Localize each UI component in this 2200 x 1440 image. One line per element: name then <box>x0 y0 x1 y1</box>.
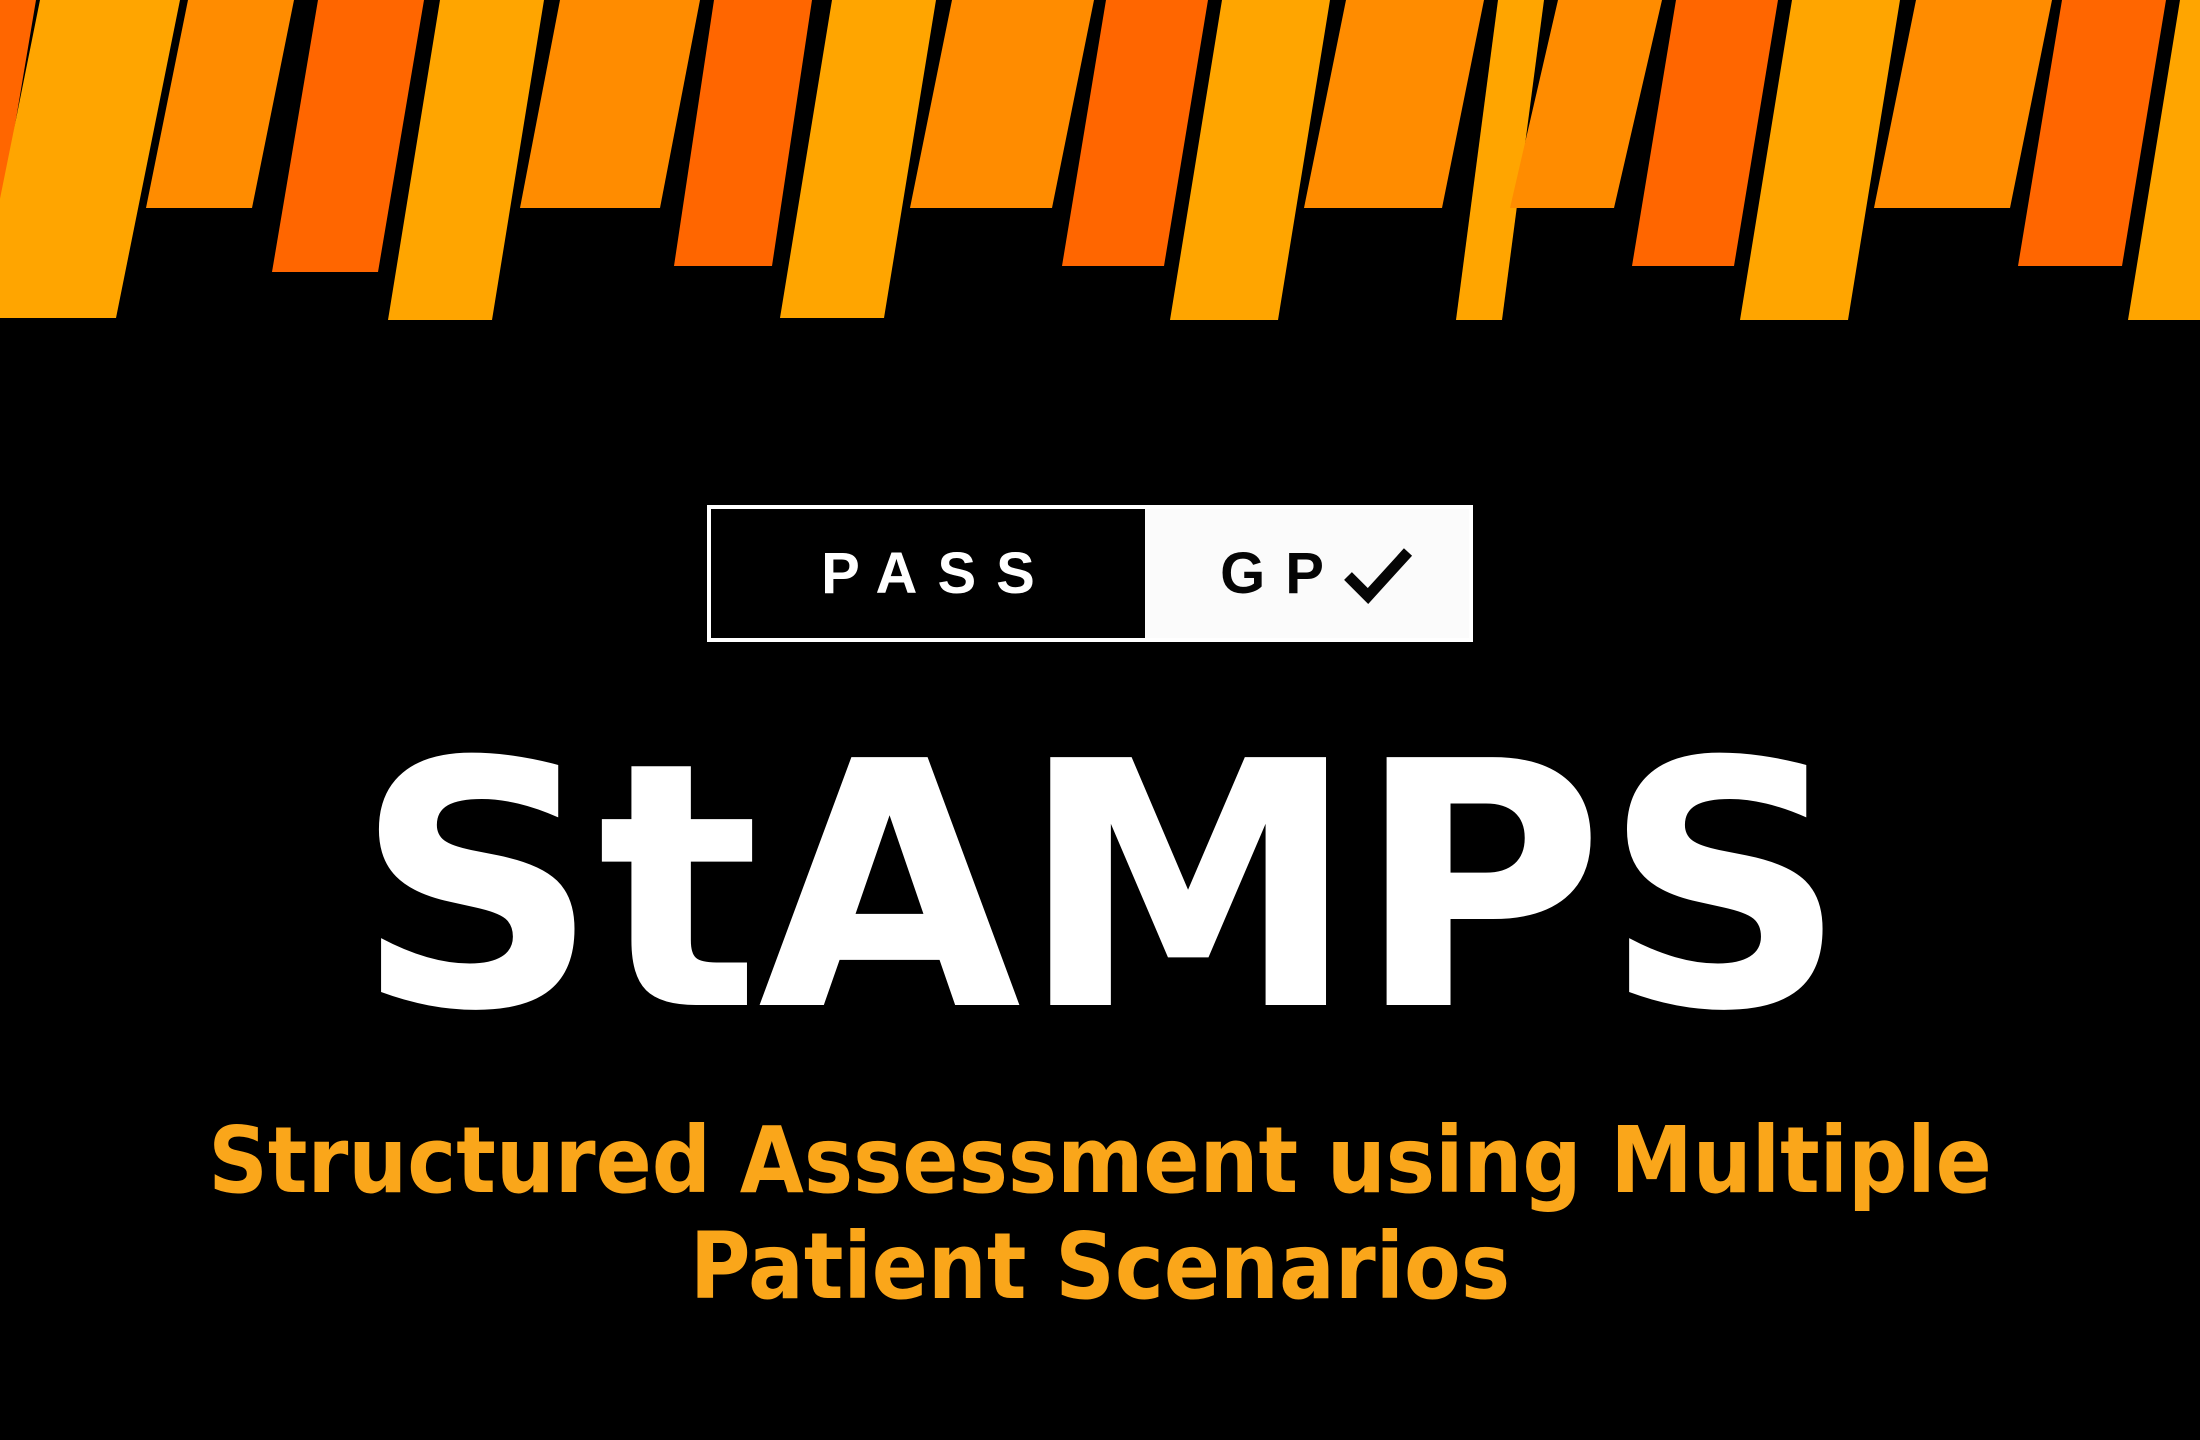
diagonal-stripe-banner <box>0 0 2200 340</box>
page-subtitle: Structured Assessment using Multiple Pat… <box>0 1108 2200 1320</box>
check-mark-icon <box>1342 546 1414 606</box>
subtitle-line-1: Structured Assessment using Multiple <box>0 1108 2200 1214</box>
poster-root: PASS GP StAMPS Structured Assessment usi… <box>0 0 2200 1440</box>
logo-box: PASS GP <box>707 505 1473 642</box>
subtitle-line-2: Patient Scenarios <box>0 1214 2200 1320</box>
page-title: StAMPS <box>0 718 2200 1058</box>
logo-gp-text: GP <box>1200 545 1344 603</box>
logo-left-panel: PASS <box>711 509 1145 638</box>
pass-gp-logo: PASS GP <box>707 505 1473 642</box>
logo-right-panel: GP <box>1145 509 1469 638</box>
logo-pass-text: PASS <box>801 545 1055 603</box>
